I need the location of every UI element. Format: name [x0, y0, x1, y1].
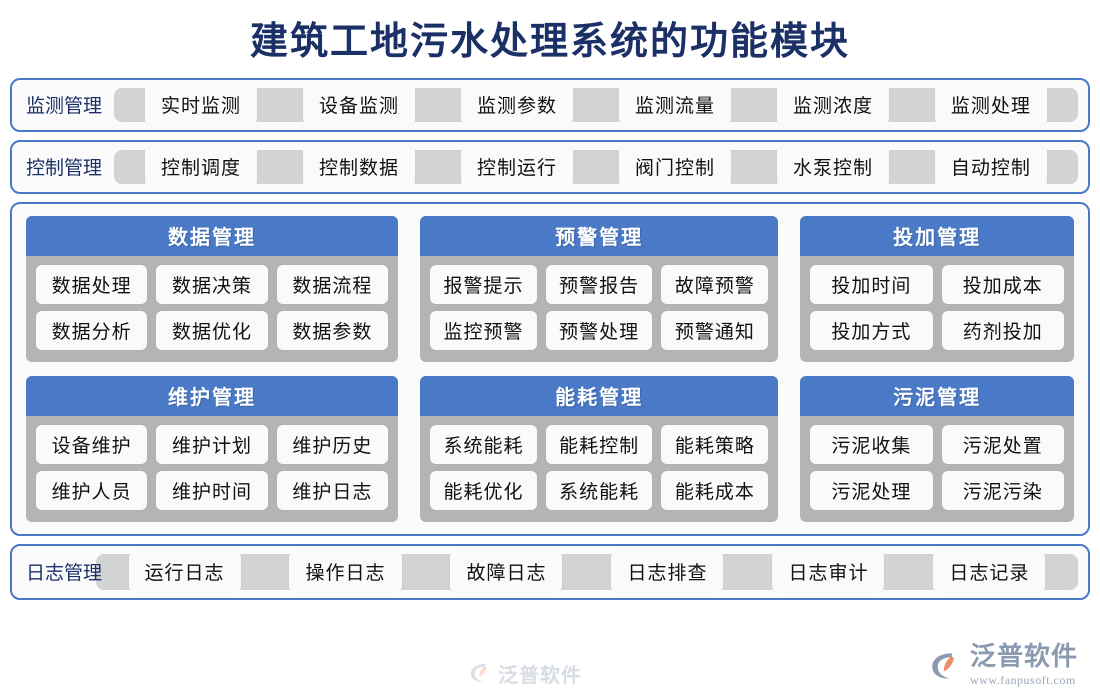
- chip-log-3[interactable]: 日志排查: [611, 551, 723, 592]
- footer-logo: 泛普软件 www.fanpusoft.com: [928, 644, 1078, 688]
- module-row: 污泥处理 污泥污染: [810, 471, 1064, 510]
- module-row: 监控预警 预警处理 预警通知: [430, 311, 768, 350]
- chip-sludge-0[interactable]: 污泥收集: [810, 425, 932, 464]
- module-card-dosing: 投加管理 投加时间 投加成本 投加方式 药剂投加: [800, 216, 1074, 362]
- module-body-sludge: 污泥收集 污泥处置 污泥处理 污泥污染: [800, 416, 1074, 522]
- chip-dosing-2[interactable]: 投加方式: [810, 311, 932, 350]
- chip-log-5[interactable]: 日志记录: [933, 551, 1045, 592]
- module-card-sludge: 污泥管理 污泥收集 污泥处置 污泥处理 污泥污染: [800, 376, 1074, 522]
- module-title-dosing: 投加管理: [800, 216, 1074, 256]
- module-title-data: 数据管理: [26, 216, 398, 256]
- chip-monitoring-1[interactable]: 设备监测: [303, 84, 415, 125]
- module-body-maintenance: 设备维护 维护计划 维护历史 维护人员 维护时间 维护日志: [26, 416, 398, 522]
- chip-maintenance-2[interactable]: 维护历史: [277, 425, 388, 464]
- chip-alarm-5[interactable]: 预警通知: [661, 311, 768, 350]
- module-body-data: 数据处理 数据决策 数据流程 数据分析 数据优化 数据参数: [26, 256, 398, 362]
- chip-maintenance-5[interactable]: 维护日志: [277, 471, 388, 510]
- module-row: 能耗优化 系统能耗 能耗成本: [430, 471, 768, 510]
- chip-data-0[interactable]: 数据处理: [36, 265, 147, 304]
- module-title-maintenance: 维护管理: [26, 376, 398, 416]
- module-row: 系统能耗 能耗控制 能耗策略: [430, 425, 768, 464]
- module-row: 数据处理 数据决策 数据流程: [36, 265, 388, 304]
- chip-sludge-1[interactable]: 污泥处置: [942, 425, 1064, 464]
- chip-monitoring-3[interactable]: 监测流量: [619, 84, 731, 125]
- module-title-energy: 能耗管理: [420, 376, 778, 416]
- diagram-page: 建筑工地污水处理系统的功能模块 监测管理 实时监测 设备监测 监测参数 监测流量…: [0, 0, 1100, 700]
- chip-log-4[interactable]: 日志审计: [772, 551, 884, 592]
- modules-container: 泛普软件 数据管理 数据处理 数据决策 数据流程 数据分析 数据优化 数据参数: [10, 202, 1090, 536]
- chip-energy-4[interactable]: 系统能耗: [546, 471, 653, 510]
- chip-dosing-1[interactable]: 投加成本: [942, 265, 1064, 304]
- footer-logo-text: 泛普软件 www.fanpusoft.com: [970, 644, 1078, 688]
- chip-energy-1[interactable]: 能耗控制: [546, 425, 653, 464]
- band-label-log: 日志管理: [12, 558, 102, 585]
- watermark: 泛普软件: [467, 659, 582, 688]
- chip-maintenance-4[interactable]: 维护时间: [156, 471, 267, 510]
- fanpu-logo-icon: [467, 660, 493, 686]
- page-title: 建筑工地污水处理系统的功能模块: [10, 0, 1090, 78]
- band-control: 控制管理 控制调度 控制数据 控制运行 阀门控制 水泵控制 自动控制: [10, 140, 1090, 194]
- chip-data-2[interactable]: 数据流程: [277, 265, 388, 304]
- module-body-energy: 系统能耗 能耗控制 能耗策略 能耗优化 系统能耗 能耗成本: [420, 416, 778, 522]
- chip-energy-0[interactable]: 系统能耗: [430, 425, 537, 464]
- chip-log-2[interactable]: 故障日志: [450, 551, 562, 592]
- module-body-dosing: 投加时间 投加成本 投加方式 药剂投加: [800, 256, 1074, 362]
- chip-control-5[interactable]: 自动控制: [935, 146, 1047, 187]
- chip-control-1[interactable]: 控制数据: [303, 146, 415, 187]
- module-row: 投加方式 药剂投加: [810, 311, 1064, 350]
- band-strip-control: 控制调度 控制数据 控制运行 阀门控制 水泵控制 自动控制: [114, 150, 1078, 184]
- band-strip-monitoring: 实时监测 设备监测 监测参数 监测流量 监测浓度 监测处理: [114, 88, 1078, 122]
- module-card-alarm: 预警管理 报警提示 预警报告 故障预警 监控预警 预警处理 预警通知: [420, 216, 778, 362]
- module-title-sludge: 污泥管理: [800, 376, 1074, 416]
- module-card-maintenance: 维护管理 设备维护 维护计划 维护历史 维护人员 维护时间 维护日志: [26, 376, 398, 522]
- chip-log-0[interactable]: 运行日志: [129, 551, 241, 592]
- chip-dosing-3[interactable]: 药剂投加: [942, 311, 1064, 350]
- band-log: 日志管理 运行日志 操作日志 故障日志 日志排查 日志审计 日志记录: [10, 544, 1090, 600]
- chip-control-0[interactable]: 控制调度: [145, 146, 257, 187]
- band-strip-log: 运行日志 操作日志 故障日志 日志排查 日志审计 日志记录: [96, 554, 1078, 590]
- chip-data-1[interactable]: 数据决策: [156, 265, 267, 304]
- footer-logo-url: www.fanpusoft.com: [970, 673, 1076, 688]
- chip-maintenance-0[interactable]: 设备维护: [36, 425, 147, 464]
- band-label-control: 控制管理: [12, 153, 114, 180]
- module-row: 投加时间 投加成本: [810, 265, 1064, 304]
- module-card-energy: 能耗管理 系统能耗 能耗控制 能耗策略 能耗优化 系统能耗 能耗成本: [420, 376, 778, 522]
- chip-monitoring-0[interactable]: 实时监测: [145, 84, 257, 125]
- chip-alarm-0[interactable]: 报警提示: [430, 265, 537, 304]
- module-row: 设备维护 维护计划 维护历史: [36, 425, 388, 464]
- module-card-data: 数据管理 数据处理 数据决策 数据流程 数据分析 数据优化 数据参数: [26, 216, 398, 362]
- chip-monitoring-5[interactable]: 监测处理: [935, 84, 1047, 125]
- chip-control-4[interactable]: 水泵控制: [777, 146, 889, 187]
- fanpu-logo-icon: [928, 649, 962, 683]
- chip-alarm-1[interactable]: 预警报告: [546, 265, 653, 304]
- chip-maintenance-1[interactable]: 维护计划: [156, 425, 267, 464]
- chip-control-3[interactable]: 阀门控制: [619, 146, 731, 187]
- chip-data-3[interactable]: 数据分析: [36, 311, 147, 350]
- chip-maintenance-3[interactable]: 维护人员: [36, 471, 147, 510]
- chip-control-2[interactable]: 控制运行: [461, 146, 573, 187]
- band-label-monitoring: 监测管理: [12, 91, 114, 118]
- band-monitoring: 监测管理 实时监测 设备监测 监测参数 监测流量 监测浓度 监测处理: [10, 78, 1090, 132]
- chip-sludge-2[interactable]: 污泥处理: [810, 471, 932, 510]
- chip-data-5[interactable]: 数据参数: [277, 311, 388, 350]
- module-row: 报警提示 预警报告 故障预警: [430, 265, 768, 304]
- module-body-alarm: 报警提示 预警报告 故障预警 监控预警 预警处理 预警通知: [420, 256, 778, 362]
- chip-data-4[interactable]: 数据优化: [156, 311, 267, 350]
- chip-log-1[interactable]: 操作日志: [289, 551, 401, 592]
- chip-alarm-4[interactable]: 预警处理: [546, 311, 653, 350]
- chip-sludge-3[interactable]: 污泥污染: [942, 471, 1064, 510]
- module-title-alarm: 预警管理: [420, 216, 778, 256]
- modules-grid: 数据管理 数据处理 数据决策 数据流程 数据分析 数据优化 数据参数 预: [26, 216, 1074, 522]
- chip-energy-2[interactable]: 能耗策略: [661, 425, 768, 464]
- chip-dosing-0[interactable]: 投加时间: [810, 265, 932, 304]
- chip-energy-5[interactable]: 能耗成本: [661, 471, 768, 510]
- module-row: 污泥收集 污泥处置: [810, 425, 1064, 464]
- chip-alarm-3[interactable]: 监控预警: [430, 311, 537, 350]
- chip-monitoring-4[interactable]: 监测浓度: [777, 84, 889, 125]
- watermark-text: 泛普软件: [498, 659, 582, 688]
- chip-monitoring-2[interactable]: 监测参数: [461, 84, 573, 125]
- module-row: 数据分析 数据优化 数据参数: [36, 311, 388, 350]
- chip-energy-3[interactable]: 能耗优化: [430, 471, 537, 510]
- module-row: 维护人员 维护时间 维护日志: [36, 471, 388, 510]
- footer-logo-name: 泛普软件: [970, 644, 1078, 670]
- chip-alarm-2[interactable]: 故障预警: [661, 265, 768, 304]
